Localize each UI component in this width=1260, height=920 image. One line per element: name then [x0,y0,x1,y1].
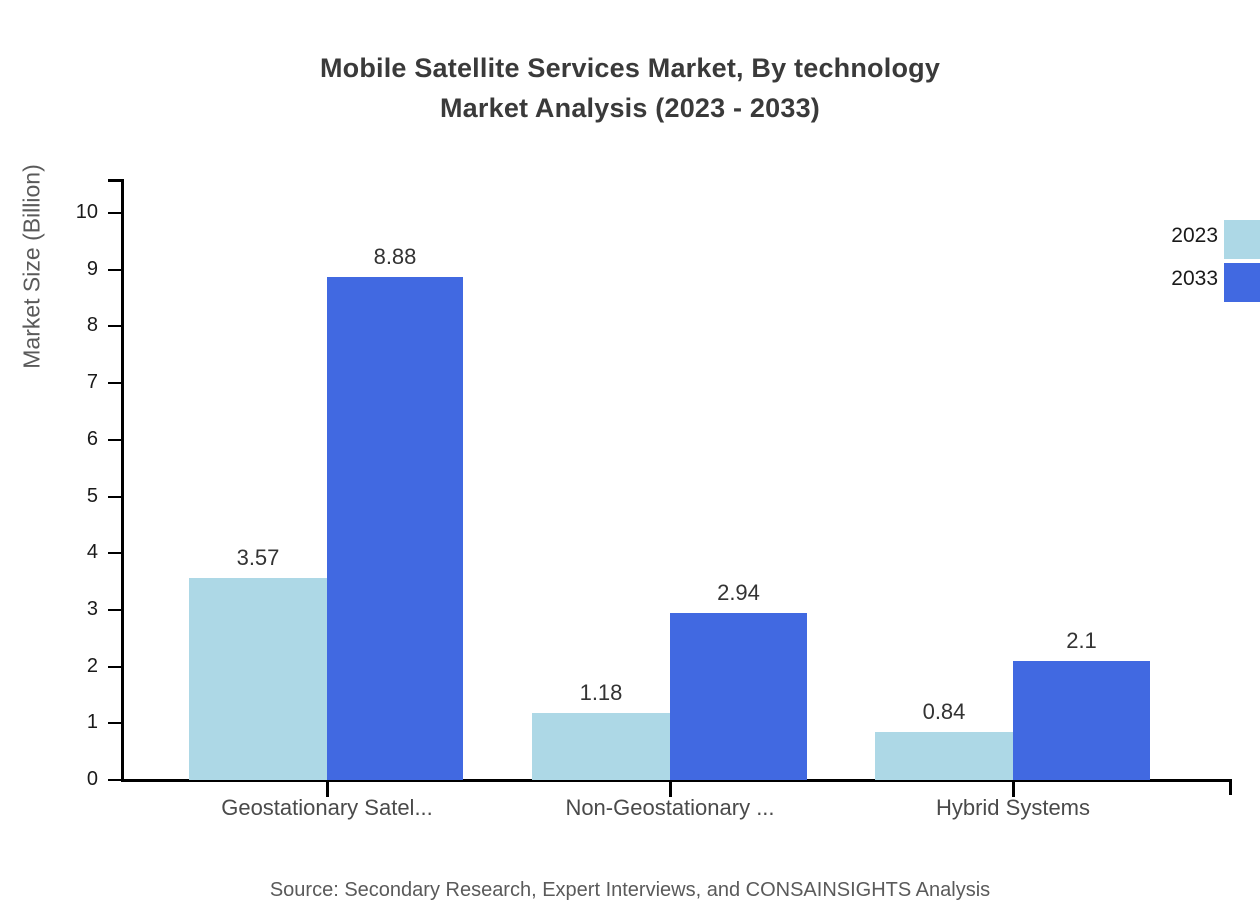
y-axis-tick [108,212,122,214]
y-axis-tick [108,382,122,384]
legend-swatch-2023 [1224,220,1260,259]
bar-value-label: 2.1 [1002,628,1162,654]
bar-2023-0[interactable] [189,578,327,780]
legend-label-2023: 2023 [1128,224,1218,248]
legend-swatch-2033 [1224,263,1260,302]
y-axis-tick-label: 0 [38,769,98,789]
bar-value-label: 0.84 [864,699,1024,725]
legend-item-2033[interactable]: 2033 [1120,261,1260,304]
y-axis-tick [108,779,122,781]
chart-title: Mobile Satellite Services Market, By tec… [0,48,1260,128]
bar-2023-2[interactable] [875,732,1013,780]
bar-value-label: 8.88 [315,244,475,270]
bar-value-label: 1.18 [521,680,681,706]
x-axis-end-cap [1229,779,1232,795]
y-axis-tick-label: 8 [38,315,98,335]
y-axis-tick [108,496,122,498]
chart-title-line-1: Mobile Satellite Services Market, By tec… [0,48,1260,88]
bar-value-label: 2.94 [659,580,819,606]
y-axis-tick [108,325,122,327]
x-axis-category-label: Non-Geostationary ... [490,793,850,823]
y-axis-tick [108,439,122,441]
legend-label-2033: 2033 [1128,267,1218,291]
source-note: Source: Secondary Research, Expert Inter… [0,876,1260,904]
chart-title-line-2: Market Analysis (2023 - 2033) [0,88,1260,128]
y-axis-tick-label: 5 [38,486,98,506]
y-axis-tick-label: 10 [38,202,98,222]
y-axis-tick-label: 7 [38,372,98,392]
bar-2033-2[interactable] [1013,661,1150,780]
y-axis-tick-label: 3 [38,599,98,619]
y-axis-tick-label: 2 [38,656,98,676]
y-axis-tick-label: 6 [38,429,98,449]
bar-2033-0[interactable] [327,277,463,780]
chart-figure: Mobile Satellite Services Market, By tec… [0,0,1260,920]
bar-2023-1[interactable] [532,713,670,780]
y-axis-tick-label: 1 [38,712,98,732]
y-axis-tick [108,552,122,554]
y-axis-tick-label: 9 [38,259,98,279]
y-axis-tick-label: 4 [38,542,98,562]
y-axis-tick [108,666,122,668]
plot-area: 3.578.881.182.940.842.1 [121,179,1232,780]
x-axis-category-label: Hybrid Systems [833,793,1193,823]
x-axis-category-label: Geostationary Satel... [147,793,507,823]
y-axis-tick [108,609,122,611]
bar-2033-1[interactable] [670,613,807,780]
chart-legend: 2023 2033 [1120,218,1260,304]
legend-item-2023[interactable]: 2023 [1120,218,1260,261]
bar-value-label: 3.57 [178,545,338,571]
y-axis-tick [108,269,122,271]
y-axis-tick [108,722,122,724]
